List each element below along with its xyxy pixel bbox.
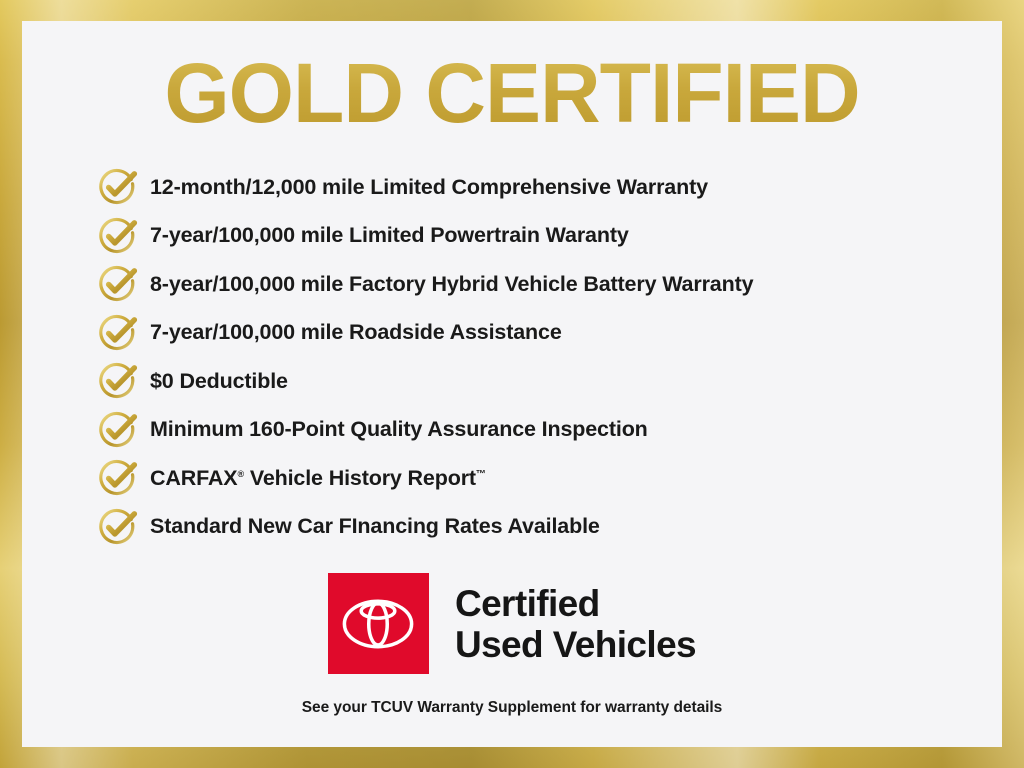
check-circle-icon <box>96 165 140 209</box>
tcuv-wordmark: Certified Used Vehicles <box>455 583 696 665</box>
toyota-certified-used-vehicles-lockup: Certified Used Vehicles <box>22 573 1002 674</box>
check-circle-icon <box>96 311 140 355</box>
benefit-label: Minimum 160-Point Quality Assurance Insp… <box>150 417 648 442</box>
carfax-report-label: Vehicle History Report <box>250 466 476 490</box>
list-item: CARFAX® Vehicle History Report™ <box>96 454 996 503</box>
check-circle-icon <box>96 456 140 500</box>
benefit-label: Standard New Car FInancing Rates Availab… <box>150 514 600 539</box>
list-item: 7-year/100,000 mile Limited Powertrain W… <box>96 212 996 261</box>
benefit-label: $0 Deductible <box>150 369 288 394</box>
carfax-wordmark: CARFAX <box>150 466 238 490</box>
check-circle-icon <box>96 262 140 306</box>
list-item: 8-year/100,000 mile Factory Hybrid Vehic… <box>96 260 996 309</box>
list-item: $0 Deductible <box>96 357 996 406</box>
check-circle-icon <box>96 359 140 403</box>
benefit-label: 12-month/12,000 mile Limited Comprehensi… <box>150 175 708 200</box>
check-circle-icon <box>96 408 140 452</box>
registered-mark: ® <box>238 469 244 479</box>
benefit-label: 7-year/100,000 mile Limited Powertrain W… <box>150 223 629 248</box>
gold-certified-banner: GOLD CERTIFIED <box>0 0 1024 768</box>
check-circle-icon <box>96 214 140 258</box>
toyota-emblem-icon <box>328 573 429 674</box>
benefit-label-carfax: CARFAX® Vehicle History Report™ <box>150 466 486 491</box>
benefit-label: 7-year/100,000 mile Roadside Assistance <box>150 320 562 345</box>
content-panel: GOLD CERTIFIED <box>22 21 1002 747</box>
tcuv-line-1: Certified <box>455 583 696 624</box>
benefit-label: 8-year/100,000 mile Factory Hybrid Vehic… <box>150 272 753 297</box>
list-item: 7-year/100,000 mile Roadside Assistance <box>96 309 996 358</box>
list-item: Minimum 160-Point Quality Assurance Insp… <box>96 406 996 455</box>
page-title: GOLD CERTIFIED <box>22 47 1002 139</box>
warranty-disclaimer: See your TCUV Warranty Supplement for wa… <box>22 699 1002 717</box>
list-item: Standard New Car FInancing Rates Availab… <box>96 503 996 552</box>
list-item: 12-month/12,000 mile Limited Comprehensi… <box>96 163 996 212</box>
tcuv-line-2: Used Vehicles <box>455 624 696 665</box>
trademark-mark: ™ <box>476 469 486 480</box>
benefits-list: 12-month/12,000 mile Limited Comprehensi… <box>96 163 996 551</box>
check-circle-icon <box>96 505 140 549</box>
